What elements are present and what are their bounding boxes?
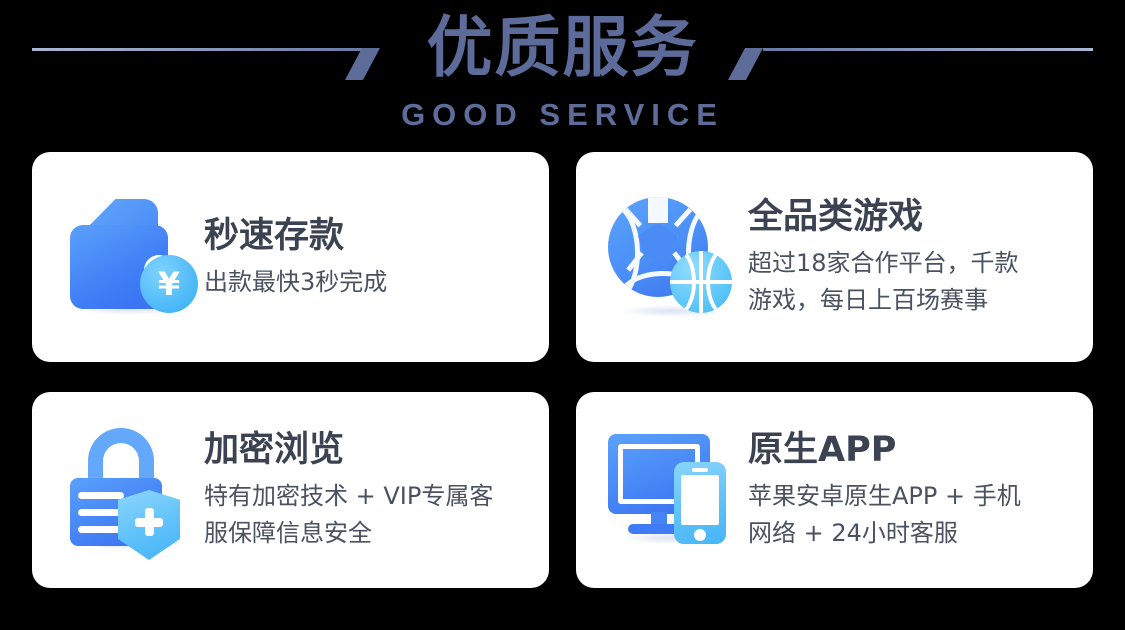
lock-slot (78, 509, 124, 516)
basketball-icon (670, 251, 732, 313)
page-title: 优质服务 (0, 8, 1125, 88)
card-description: 出款最快3秒完成 (204, 264, 523, 301)
service-card-grid: ¥ 秒速存款 出款最快3秒完成 (32, 152, 1093, 588)
card-description-line: 网络 + 24小时客服 (748, 515, 1067, 552)
lock-shield-icon (58, 420, 198, 560)
card-description: 苹果安卓原生APP + 手机 网络 + 24小时客服 (748, 478, 1067, 552)
wallet-coin-icon: ¥ (58, 187, 198, 327)
phone-home-button (694, 529, 706, 541)
service-card-encryption[interactable]: 加密浏览 特有加密技术 + VIP专属客 服保障信息安全 (32, 392, 549, 588)
phone-screen (681, 475, 719, 525)
card-description-line: 苹果安卓原生APP + 手机 (748, 478, 1067, 515)
card-text-block: 加密浏览 特有加密技术 + VIP专属客 服保障信息安全 (204, 428, 523, 552)
card-text-block: 原生APP 苹果安卓原生APP + 手机 网络 + 24小时客服 (748, 428, 1067, 552)
card-description-line: 出款最快3秒完成 (204, 264, 523, 301)
soccer-basketball-icon (602, 187, 742, 327)
phone-speaker (692, 468, 708, 472)
card-description: 特有加密技术 + VIP专属客 服保障信息安全 (204, 478, 523, 552)
card-title: 全品类游戏 (748, 195, 1067, 239)
yuan-coin-icon: ¥ (140, 255, 198, 313)
card-text-block: 秒速存款 出款最快3秒完成 (204, 214, 523, 301)
monitor-phone-icon (602, 420, 742, 560)
card-text-block: 全品类游戏 超过18家合作平台，千款 游戏，每日上百场赛事 (748, 195, 1067, 319)
card-title: 秒速存款 (204, 214, 523, 258)
card-title: 加密浏览 (204, 428, 523, 472)
card-description-line: 特有加密技术 + VIP专属客 (204, 478, 523, 515)
card-title: 原生APP (748, 428, 1067, 472)
card-description-line: 游戏，每日上百场赛事 (748, 282, 1067, 319)
service-card-games[interactable]: 全品类游戏 超过18家合作平台，千款 游戏，每日上百场赛事 (576, 152, 1093, 362)
card-description: 超过18家合作平台，千款 游戏，每日上百场赛事 (748, 245, 1067, 319)
page-header: 优质服务 GOOD SERVICE (0, 0, 1125, 140)
lock-slot (78, 492, 124, 499)
card-description-line: 服保障信息安全 (204, 515, 523, 552)
phone-icon (674, 462, 726, 544)
card-description-line: 超过18家合作平台，千款 (748, 245, 1067, 282)
service-card-deposit[interactable]: ¥ 秒速存款 出款最快3秒完成 (32, 152, 549, 362)
cross-icon (134, 507, 164, 537)
lock-slot (78, 526, 124, 533)
service-card-native-app[interactable]: 原生APP 苹果安卓原生APP + 手机 网络 + 24小时客服 (576, 392, 1093, 588)
page-subtitle: GOOD SERVICE (0, 96, 1125, 134)
